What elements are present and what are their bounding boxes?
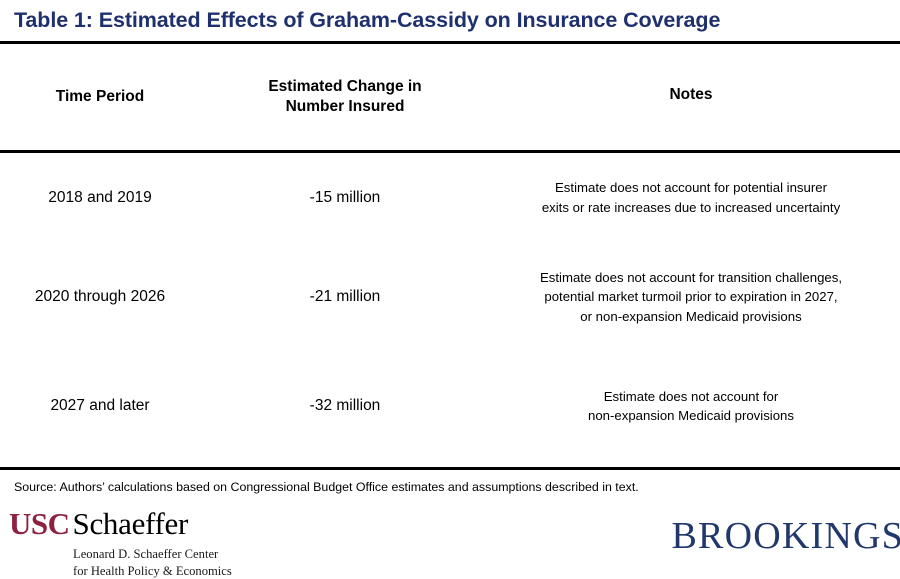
note-line: Estimate does not account for — [588, 387, 794, 406]
usc-subtitle-line1: Leonard D. Schaeffer Center — [73, 546, 232, 563]
note-line: or non-expansion Medicaid provisions — [540, 307, 842, 326]
column-header-notes: Notes — [490, 44, 900, 150]
brookings-logo: BROOKINGS — [672, 517, 900, 555]
cell-notes: Estimate does not account for potential … — [490, 153, 900, 242]
usc-letters: USC — [9, 506, 70, 541]
cell-time-period: 2020 through 2026 — [0, 242, 200, 352]
note-line: Estimate does not account for potential … — [542, 178, 840, 197]
column-header-estimated-change-line2: Number Insured — [268, 97, 421, 117]
column-header-time-period: Time Period — [0, 44, 200, 150]
usc-schaeffer-name: Schaeffer — [73, 506, 189, 541]
title-band: Table 1: Estimated Effects of Graham-Cas… — [0, 0, 900, 41]
usc-schaeffer-wordmark: USCSchaeffer — [9, 508, 232, 539]
usc-schaeffer-subtitle: Leonard D. Schaeffer Center for Health P… — [73, 546, 232, 579]
note-line: exits or rate increases due to increased… — [542, 198, 840, 217]
note-line: non-expansion Medicaid provisions — [588, 406, 794, 425]
footer-logos: USCSchaeffer Leonard D. Schaeffer Center… — [0, 505, 900, 577]
table-header: Time Period Estimated Change in Number I… — [0, 44, 900, 150]
cell-estimated-change: -21 million — [200, 242, 490, 352]
column-header-estimated-change-line1: Estimated Change in — [268, 77, 421, 97]
rule-above-source — [0, 467, 900, 470]
source-note: Source: Authors’ calculations based on C… — [14, 480, 639, 494]
cell-time-period: 2027 and later — [0, 352, 200, 460]
table-row: 2018 and 2019 -15 million Estimate does … — [0, 153, 900, 242]
cell-notes: Estimate does not account for transition… — [490, 242, 900, 352]
note-line: potential market turmoil prior to expira… — [540, 287, 842, 306]
cell-notes: Estimate does not account for non-expans… — [490, 352, 900, 460]
usc-schaeffer-logo: USCSchaeffer Leonard D. Schaeffer Center… — [9, 508, 232, 579]
column-header-estimated-change: Estimated Change in Number Insured — [200, 44, 490, 150]
page-title: Table 1: Estimated Effects of Graham-Cas… — [14, 8, 720, 33]
cell-time-period: 2018 and 2019 — [0, 153, 200, 242]
cell-estimated-change: -15 million — [200, 153, 490, 242]
table-row: 2020 through 2026 -21 million Estimate d… — [0, 242, 900, 352]
note-line: Estimate does not account for transition… — [540, 268, 842, 287]
table-header-row: Time Period Estimated Change in Number I… — [0, 44, 900, 150]
cell-estimated-change: -32 million — [200, 352, 490, 460]
table-body: 2018 and 2019 -15 million Estimate does … — [0, 153, 900, 460]
table-row: 2027 and later -32 million Estimate does… — [0, 352, 900, 460]
